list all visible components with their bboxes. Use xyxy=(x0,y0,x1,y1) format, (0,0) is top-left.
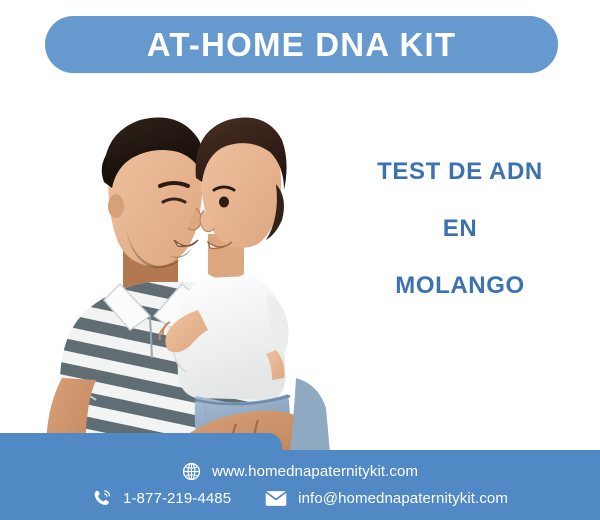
footer-row-website: www.homednapaternitykit.com xyxy=(182,462,418,481)
phone-icon xyxy=(92,488,112,508)
photo-illustration xyxy=(0,78,330,453)
headline-line-2: EN xyxy=(335,217,585,241)
poster-canvas: AT-HOME DNA KIT xyxy=(0,0,600,520)
website-text: www.homednapaternitykit.com xyxy=(212,464,418,479)
headline-block: TEST DE ADN EN MOLANGO xyxy=(335,160,585,298)
globe-icon xyxy=(182,462,201,481)
headline-line-3: MOLANGO xyxy=(335,274,585,298)
page-title: AT-HOME DNA KIT xyxy=(147,28,456,61)
header-banner: AT-HOME DNA KIT xyxy=(45,16,558,73)
headline-line-1: TEST DE ADN xyxy=(335,160,585,184)
footer-row-phone-email: 1-877-219-4485 info@homednapaternitykit.… xyxy=(92,488,508,508)
footer-contact-rows: www.homednapaternitykit.com 1-877-219-44… xyxy=(0,450,600,520)
phone-contact-item[interactable]: 1-877-219-4485 xyxy=(92,488,231,508)
envelope-icon xyxy=(265,490,287,507)
email-contact-item[interactable]: info@homednapaternitykit.com xyxy=(265,490,508,507)
father-and-child-photo xyxy=(0,78,330,453)
phone-text: 1-877-219-4485 xyxy=(123,491,231,506)
email-text: info@homednapaternitykit.com xyxy=(298,491,508,506)
website-contact-item[interactable]: www.homednapaternitykit.com xyxy=(182,462,418,481)
